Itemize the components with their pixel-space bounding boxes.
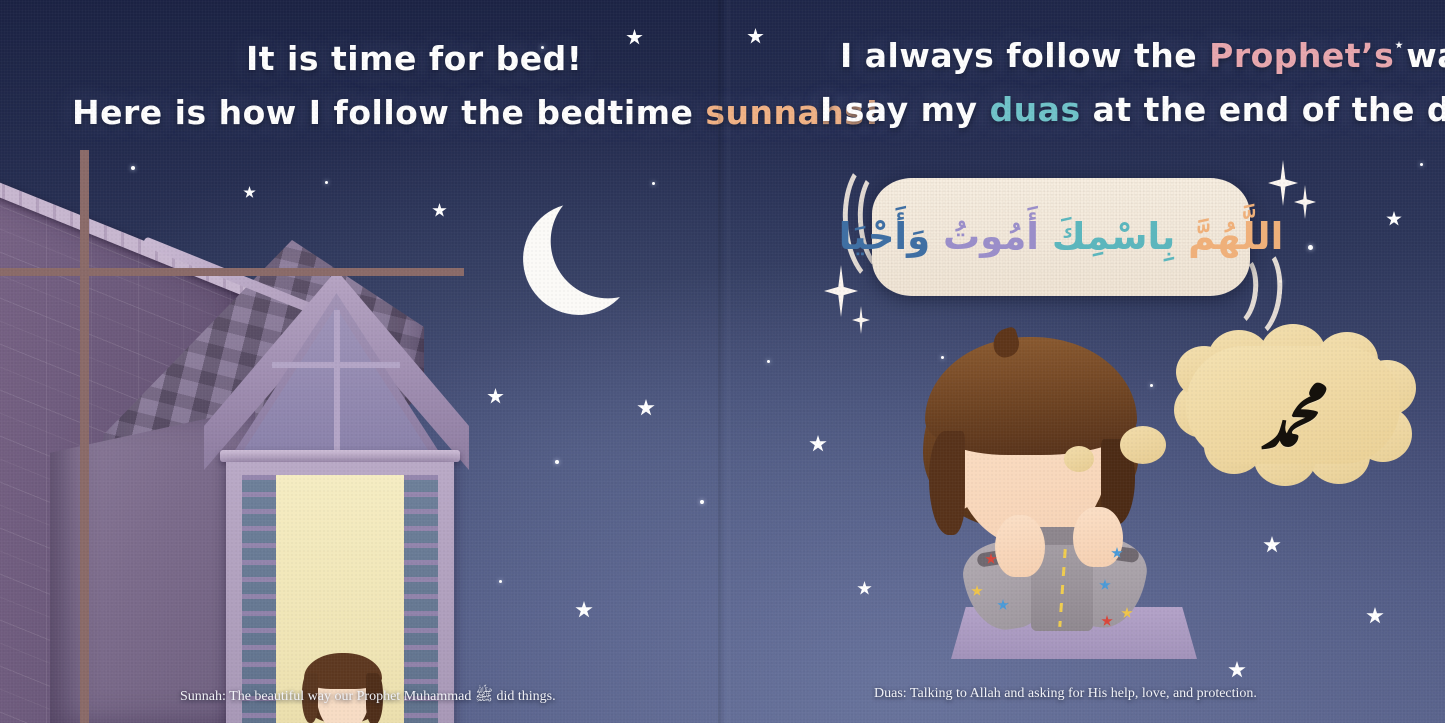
star-icon <box>1263 536 1281 554</box>
window-mullion-vertical <box>80 150 89 723</box>
right-headline-line2-suffix: at the end of the day. <box>1081 90 1445 129</box>
dua-word-wa-ahya: وَأَحْيَا <box>839 212 930 262</box>
house-illustration <box>0 150 464 723</box>
sparkle-icon <box>1268 160 1298 206</box>
footnote-duas: Duas: Talking to Allah and asking for Hi… <box>874 686 1257 702</box>
star-icon <box>747 28 764 45</box>
thought-trail-dot <box>1064 446 1094 472</box>
duas-highlight: duas <box>990 90 1081 129</box>
star-icon <box>1228 661 1246 679</box>
left-headline-line1-text: It is time for bed! <box>246 39 582 78</box>
star-icon <box>637 399 655 417</box>
gable-mullion-horizontal <box>272 362 400 368</box>
book-spread: It is time for bed! Here is how I follow… <box>0 0 1445 723</box>
dua-speech-bubble: اللَّهُمَّ بِاسْمِكَ أَمُوتُ وَأَحْيَا <box>872 178 1250 296</box>
prophet-highlight: Prophet’s <box>1209 36 1394 75</box>
star-dot-icon <box>652 182 655 185</box>
star-icon <box>857 581 872 596</box>
left-headline-line1: It is time for bed! <box>246 39 582 78</box>
sparkle-icon <box>852 306 870 334</box>
star-icon <box>1386 211 1402 227</box>
window-mullion-horizontal <box>0 268 464 276</box>
crescent-moon-icon <box>523 203 635 315</box>
boy-hair-side-left <box>929 431 965 535</box>
gable-ledge <box>220 450 460 462</box>
right-headline-line2-prefix: I say my <box>820 90 990 129</box>
left-headline-line2: Here is how I follow the bedtime sunnahs… <box>72 93 880 132</box>
dua-word-allahumma: اللَّهُمَّ <box>1188 212 1283 262</box>
dua-word-bismika: بِاسْمِكَ <box>1052 212 1175 262</box>
footnote-duas-text: Duas: Talking to Allah and asking for Hi… <box>874 686 1257 701</box>
sparkle-icon <box>1294 185 1316 219</box>
right-headline-line1-prefix: I always follow the <box>840 36 1209 75</box>
star-icon <box>626 29 643 46</box>
right-headline-line1: I always follow the Prophet’s way. <box>840 36 1445 75</box>
boy-illustration <box>905 335 1205 675</box>
star-icon <box>487 388 504 405</box>
left-headline-line2-prefix: Here is how I follow the bedtime <box>72 93 705 132</box>
footnote-sunnah: Sunnah: The beautiful way our Prophet Mu… <box>180 686 556 708</box>
star-dot-icon <box>700 500 704 504</box>
star-dot-icon <box>499 580 502 583</box>
boy-hand-left <box>995 515 1045 577</box>
thought-trail-dot <box>1120 426 1166 464</box>
star-dot-icon <box>1420 163 1423 166</box>
muhammad-calligraphy: ﷴ <box>1186 346 1400 464</box>
star-icon <box>1366 607 1384 625</box>
boy-hand-right <box>1073 507 1123 567</box>
star-dot-icon <box>1308 245 1313 250</box>
right-headline-line1-suffix: way. <box>1394 36 1445 75</box>
dua-arabic-text: اللَّهُمَّ بِاسْمِكَ أَمُوتُ وَأَحْيَا <box>872 178 1250 296</box>
dua-word-amutu: أَمُوتُ <box>943 212 1039 262</box>
star-dot-icon <box>555 460 559 464</box>
star-dot-icon <box>767 360 770 363</box>
footnote-sunnah-text-end: did things. <box>493 689 556 704</box>
sparkle-icon <box>824 265 858 317</box>
muhammad-thought-bubble: ﷴ <box>1168 330 1418 490</box>
star-icon <box>809 435 827 453</box>
footnote-sunnah-text: Sunnah: The beautiful way our Prophet Mu… <box>180 689 475 704</box>
sallallahu-alayhi-wasallam-glyph: ﷺ <box>475 688 493 704</box>
gable-mullion-vertical <box>334 310 340 452</box>
star-icon <box>575 601 593 619</box>
right-headline-line2: I say my duas at the end of the day. <box>820 90 1445 129</box>
